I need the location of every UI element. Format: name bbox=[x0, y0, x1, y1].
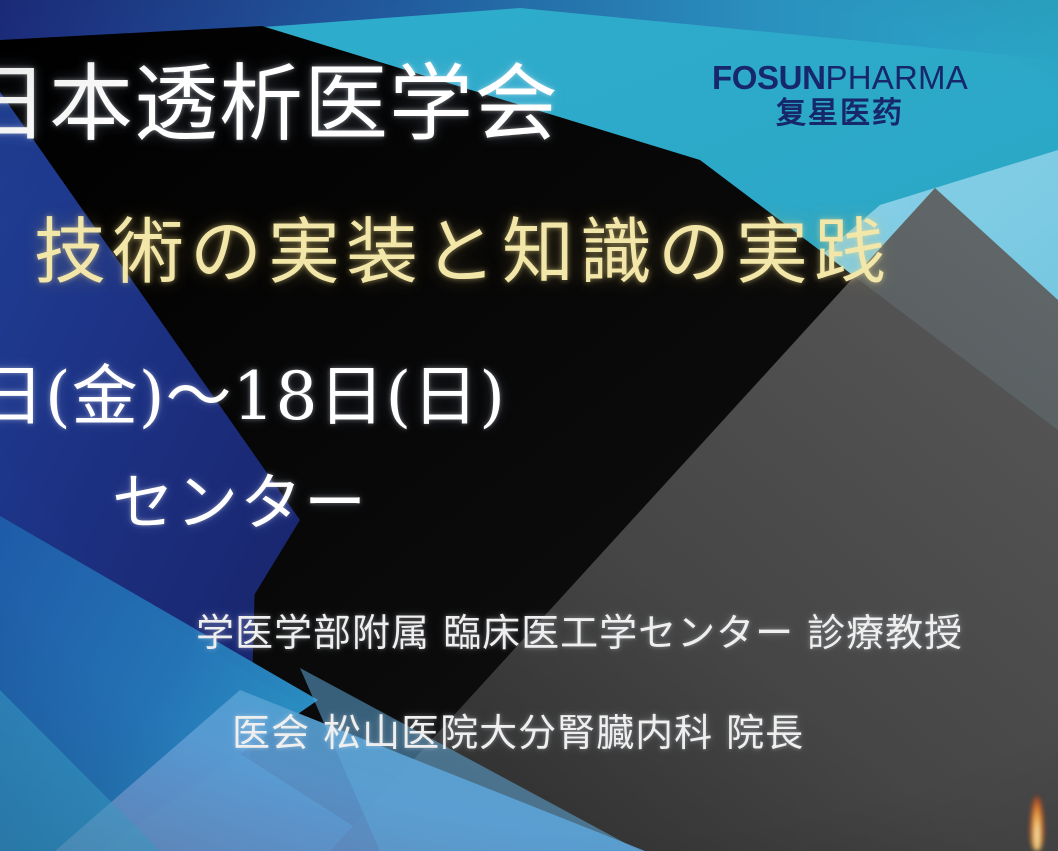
sponsor-logo-wordmark: FOSUNPHARMA bbox=[712, 60, 968, 96]
sponsor-logo-word-secondary: PHARMA bbox=[826, 59, 968, 96]
sponsor-logo-word-primary: FOSUN bbox=[712, 59, 826, 96]
sponsor-logo: FOSUNPHARMA 复星医药 bbox=[712, 60, 968, 129]
sponsor-logo-word-cjk: 复星医药 bbox=[712, 99, 968, 129]
slide-frame: 日本透析医学会 技術の実装と知識の実践 日(金)〜18日(日) センター 学医学… bbox=[0, 0, 1058, 851]
